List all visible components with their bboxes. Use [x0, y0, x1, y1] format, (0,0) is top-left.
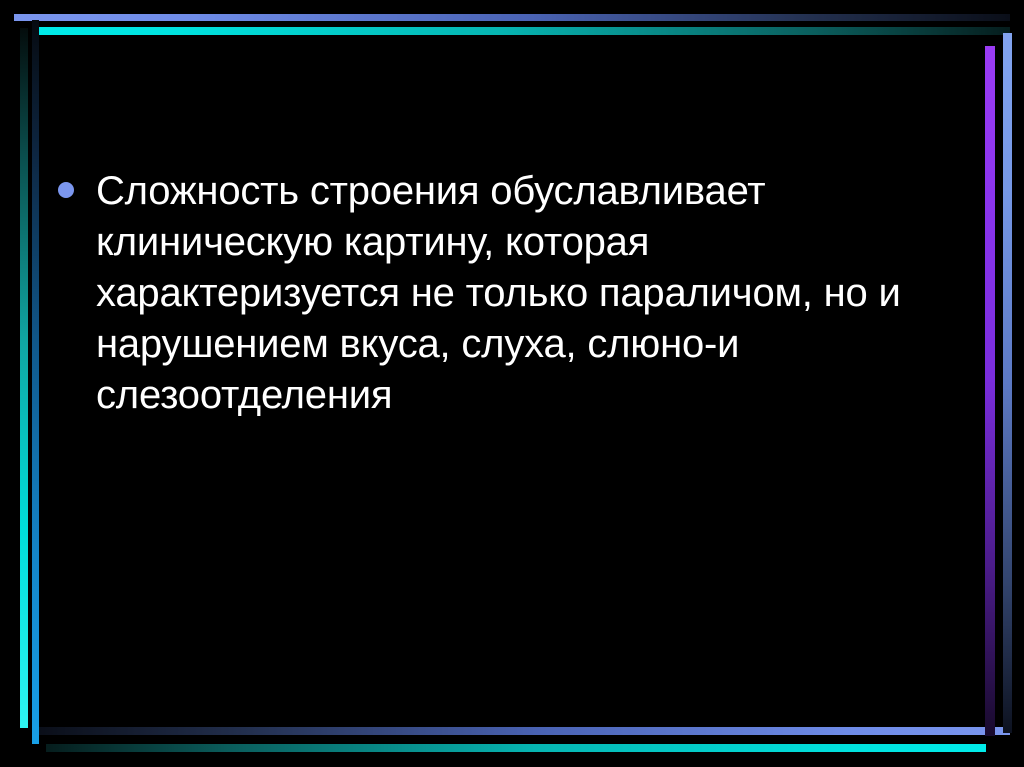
bullet-item-text: Сложность строения обуславливает клиниче…	[96, 166, 958, 421]
bullet-list-item: Сложность строения обуславливает клиниче…	[58, 166, 958, 421]
presentation-slide: Сложность строения обуславливает клиниче…	[0, 0, 1024, 767]
slide-content-area: Сложность строения обуславливает клиниче…	[0, 0, 1024, 767]
bullet-marker-icon	[58, 182, 74, 198]
